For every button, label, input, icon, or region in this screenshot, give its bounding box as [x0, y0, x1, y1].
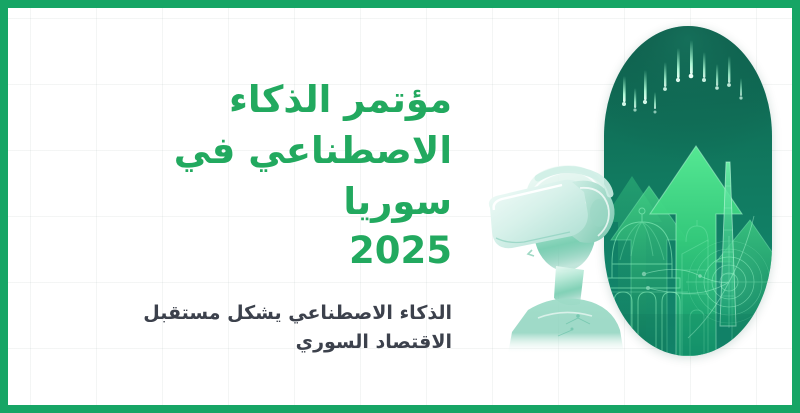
banner-canvas: مؤتمر الذكاء الاصطناعي في سوريا 2025 الذ…: [0, 0, 800, 413]
banner-text-block: مؤتمر الذكاء الاصطناعي في سوريا 2025 الذ…: [132, 74, 452, 358]
frame-border-bottom: [0, 405, 800, 413]
frame-border-left: [0, 0, 8, 413]
page-title: مؤتمر الذكاء الاصطناعي في سوريا: [132, 74, 452, 227]
frame-border-top: [0, 0, 800, 8]
vr-person-artwork: [468, 158, 648, 354]
torso: [508, 298, 624, 354]
vr-person-illustration: [468, 158, 648, 354]
frame-border-right: [792, 0, 800, 413]
page-subtitle: الذكاء الاصطناعي يشكل مستقبل الاقتصاد ال…: [132, 299, 452, 358]
event-year: 2025: [132, 229, 452, 273]
